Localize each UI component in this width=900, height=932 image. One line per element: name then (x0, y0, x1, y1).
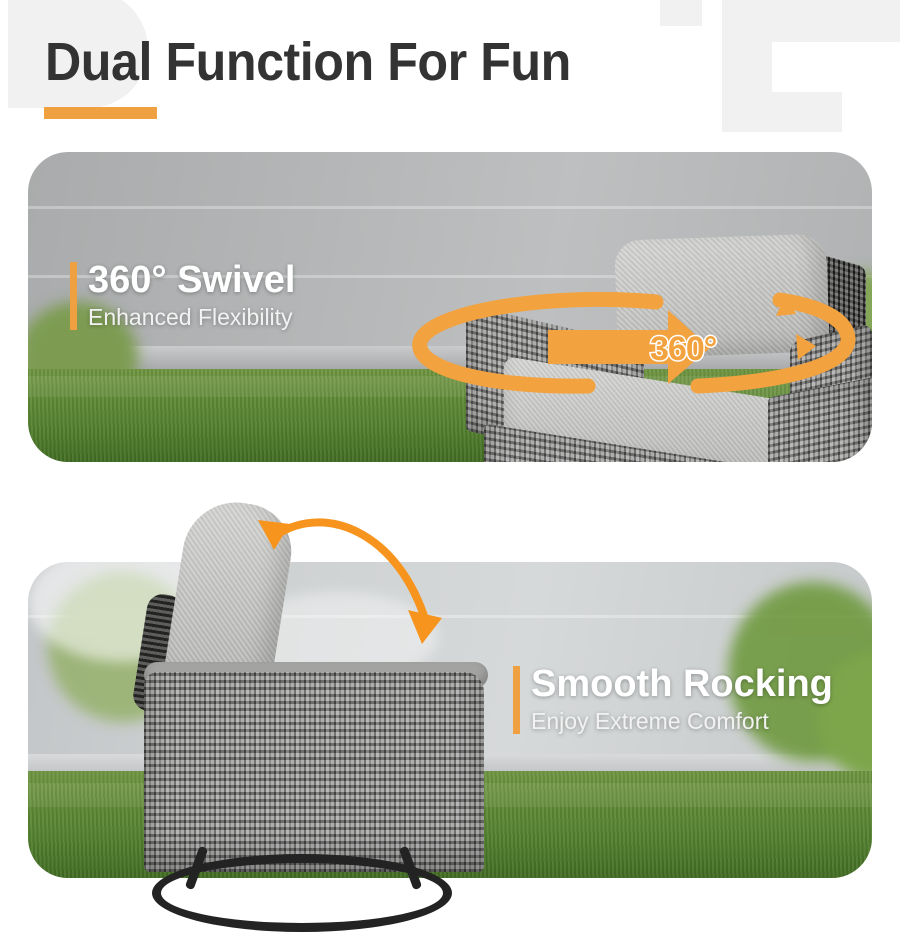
caption-headline-rocking: Smooth Rocking (531, 662, 833, 706)
wall-seam-upper (28, 206, 872, 209)
caption-rocking: Smooth Rocking Enjoy Extreme Comfort (513, 662, 833, 735)
watermark-letter-f-mid (722, 92, 842, 132)
watermark-letter-f-tail (660, 0, 702, 26)
caption-subtext-swivel: Enhanced Flexibility (88, 303, 295, 331)
caption-headline-swivel: 360° Swivel (88, 258, 295, 302)
caption-swivel: 360° Swivel Enhanced Flexibility (70, 258, 295, 331)
chair-side-panel (768, 376, 872, 462)
chair-rocker-ring-base (152, 854, 452, 932)
chair-body-rocking (144, 672, 484, 872)
caption-accent-bar-swivel (70, 262, 77, 330)
caption-accent-bar-rocking (513, 666, 520, 734)
page-title: Dual Function For Fun (45, 34, 571, 90)
product-rocking-chair (88, 502, 508, 902)
caption-subtext-rocking: Enjoy Extreme Comfort (531, 707, 833, 735)
title-accent-rule (44, 107, 157, 119)
swivel-degrees-label: 360° (650, 330, 716, 369)
watermark-letter-f-stem (722, 0, 772, 110)
watermark-letter-f-top (722, 0, 900, 42)
